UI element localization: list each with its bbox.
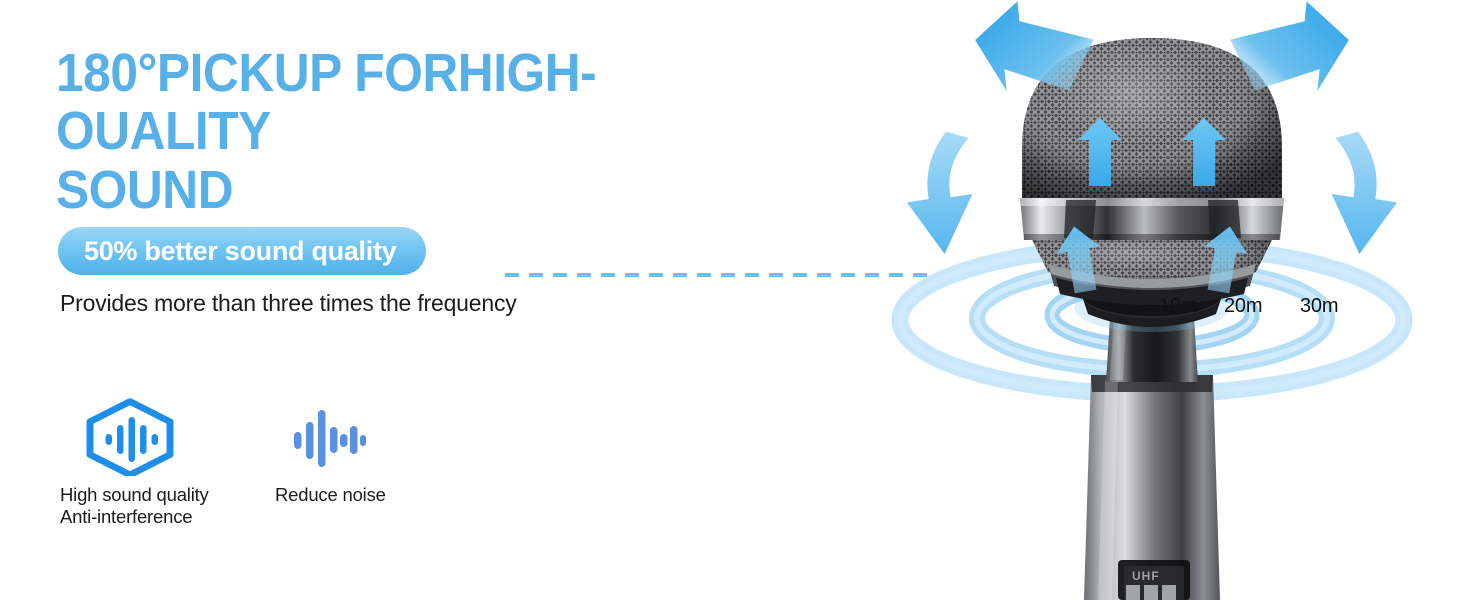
hexagon-waveform-icon bbox=[82, 398, 178, 476]
waveform-icon bbox=[290, 402, 368, 472]
infographic-canvas: 180°PICKUP FORHIGH-OUALITY SOUND 50% bet… bbox=[0, 0, 1464, 600]
mic-handle: UHF bbox=[1084, 375, 1220, 600]
distance-30m-label: 30m bbox=[1300, 295, 1338, 318]
page-title: 180°PICKUP FORHIGH-OUALITY SOUND bbox=[56, 44, 810, 219]
icon-wrap bbox=[275, 398, 386, 476]
feature-caption: High sound quality Anti-interference bbox=[60, 484, 209, 528]
feature-high-sound-quality: High sound quality Anti-interference bbox=[60, 398, 209, 528]
arrow-curve-left-down-icon bbox=[902, 130, 976, 256]
svg-text:UHF: UHF bbox=[1132, 569, 1160, 583]
distance-20m-label: 20m bbox=[1224, 295, 1262, 318]
subtitle-text: Provides more than three times the frequ… bbox=[60, 290, 517, 317]
arrow-curve-right-down-icon bbox=[1327, 130, 1401, 256]
status-badge: 50% better sound quality bbox=[58, 227, 426, 275]
icon-wrap bbox=[60, 398, 209, 476]
status-badge-label: 50% better sound quality bbox=[84, 236, 396, 267]
feature-caption: Reduce noise bbox=[275, 484, 386, 506]
distance-10m-label: 10m bbox=[1159, 295, 1197, 318]
feature-reduce-noise: Reduce noise bbox=[275, 398, 386, 506]
